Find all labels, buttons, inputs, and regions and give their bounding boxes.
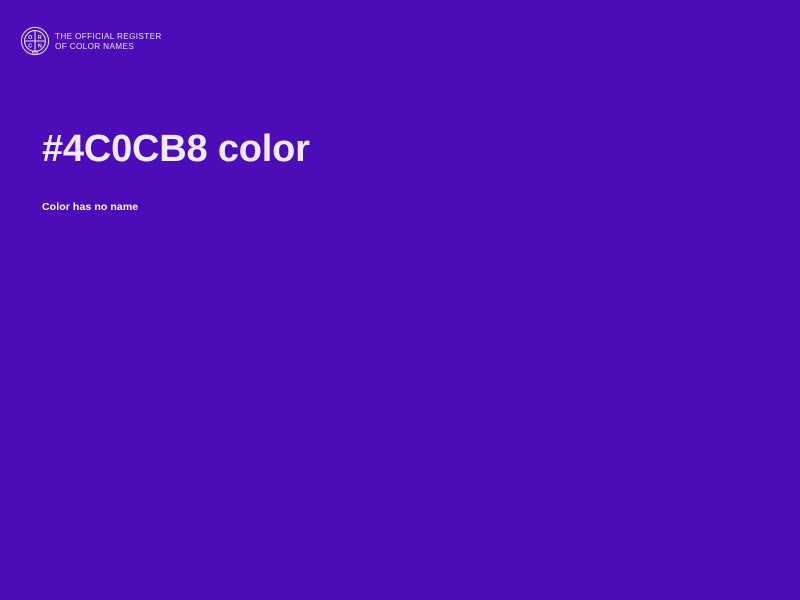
brand-line-2: OF COLOR NAMES <box>55 42 162 52</box>
page-title: #4C0CB8 color <box>42 126 742 172</box>
svg-text:C: C <box>28 43 32 49</box>
color-detail-content: #4C0CB8 color Color has no name <box>42 126 742 214</box>
register-seal-icon: O R C N <box>20 26 50 56</box>
color-name-status: Color has no name <box>42 172 742 214</box>
color-swatch-background <box>0 0 800 600</box>
svg-text:O: O <box>28 35 32 41</box>
brand-line-1: THE OFFICIAL REGISTER <box>55 32 162 42</box>
brand-wordmark: THE OFFICIAL REGISTER OF COLOR NAMES <box>55 31 162 52</box>
site-brand-header[interactable]: O R C N THE OFFICIAL REGISTER OF COLOR N… <box>20 26 162 56</box>
svg-text:N: N <box>38 43 42 49</box>
svg-text:R: R <box>38 35 42 41</box>
